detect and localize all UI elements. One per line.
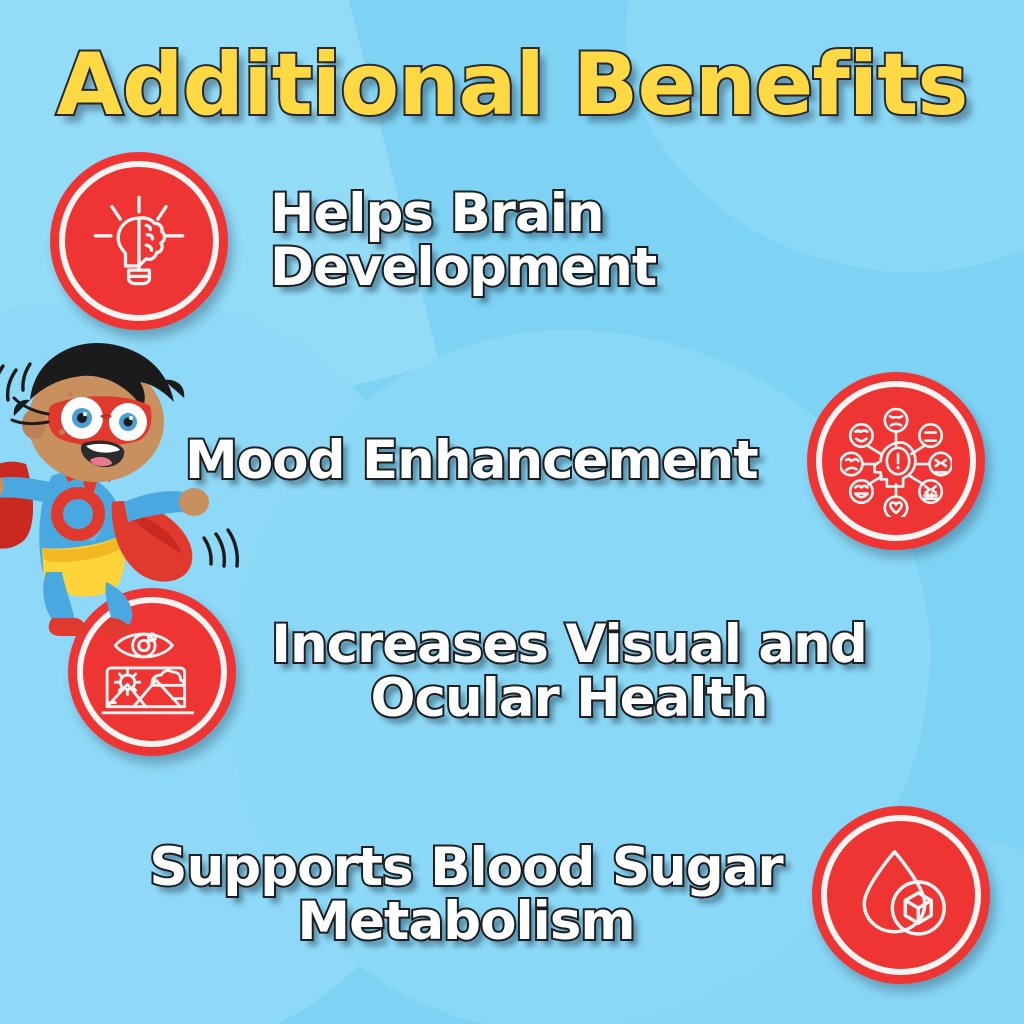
mood-emoji-network-icon [807,372,985,550]
benefit-row-blood-sugar-metabolism: Supports Blood Sugar Metabolism [120,806,990,984]
benefit-label-mood-enhancement: Mood Enhancement [185,434,807,488]
flying-superhero-boy [0,336,248,636]
blood-drop-sugar-cube-icon [812,806,990,984]
lightbulb-brain-icon [50,152,228,330]
page-title: Additional Benefits [0,42,1024,128]
benefit-label-brain-development: Helps Brain Development [270,187,990,295]
infographic-canvas: Additional Benefits [0,0,1024,1024]
benefit-label-blood-sugar-metabolism: Supports Blood Sugar Metabolism [120,841,812,949]
benefit-label-visual-ocular-health: Increases Visual and Ocular Health [270,618,868,726]
benefit-row-brain-development: Helps Brain Development [50,152,990,330]
benefit-row-mood-enhancement: Mood Enhancement [185,372,985,550]
